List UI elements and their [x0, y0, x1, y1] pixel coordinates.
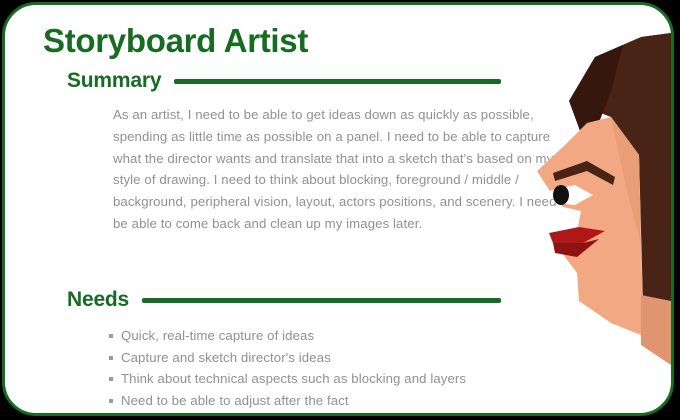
needs-list: Quick, real-time capture of ideas Captur… [109, 325, 579, 411]
summary-heading-label: Summary [67, 69, 161, 93]
summary-body-text: As an artist, I need to be able to get i… [113, 104, 575, 235]
summary-divider-rule [174, 79, 501, 84]
hair-shape [569, 33, 671, 305]
hair-top-shape [641, 33, 671, 65]
needs-section-header: Needs [67, 288, 501, 312]
bullet-square-icon [109, 399, 113, 403]
needs-item-label: Capture and sketch director's ideas [121, 350, 331, 365]
persona-card: Storyboard Artist Summary As an artist, … [2, 2, 674, 416]
needs-item-label: Quick, real-time capture of ideas [121, 328, 314, 343]
persona-text-column: Storyboard Artist Summary As an artist, … [5, 5, 525, 416]
needs-heading-label: Needs [67, 288, 129, 312]
list-item: Think about technical aspects such as bl… [109, 368, 579, 390]
bullet-square-icon [109, 377, 113, 381]
list-item: Capture and sketch director's ideas [109, 347, 579, 369]
summary-section-header: Summary [67, 69, 501, 93]
neck-shape [641, 295, 671, 365]
page-title: Storyboard Artist [43, 22, 308, 60]
hair-shadow-shape [569, 45, 623, 139]
needs-divider-rule [142, 298, 501, 303]
needs-item-label: Think about technical aspects such as bl… [121, 371, 466, 386]
lower-lip-shape [553, 239, 599, 257]
list-item: Need to be able to adjust after the fact [109, 390, 579, 412]
cheek-shadow-shape [611, 117, 641, 245]
bullet-square-icon [109, 356, 113, 360]
list-item: Quick, real-time capture of ideas [109, 325, 579, 347]
bullet-square-icon [109, 334, 113, 338]
needs-item-label: Need to be able to adjust after the fact [121, 393, 349, 408]
